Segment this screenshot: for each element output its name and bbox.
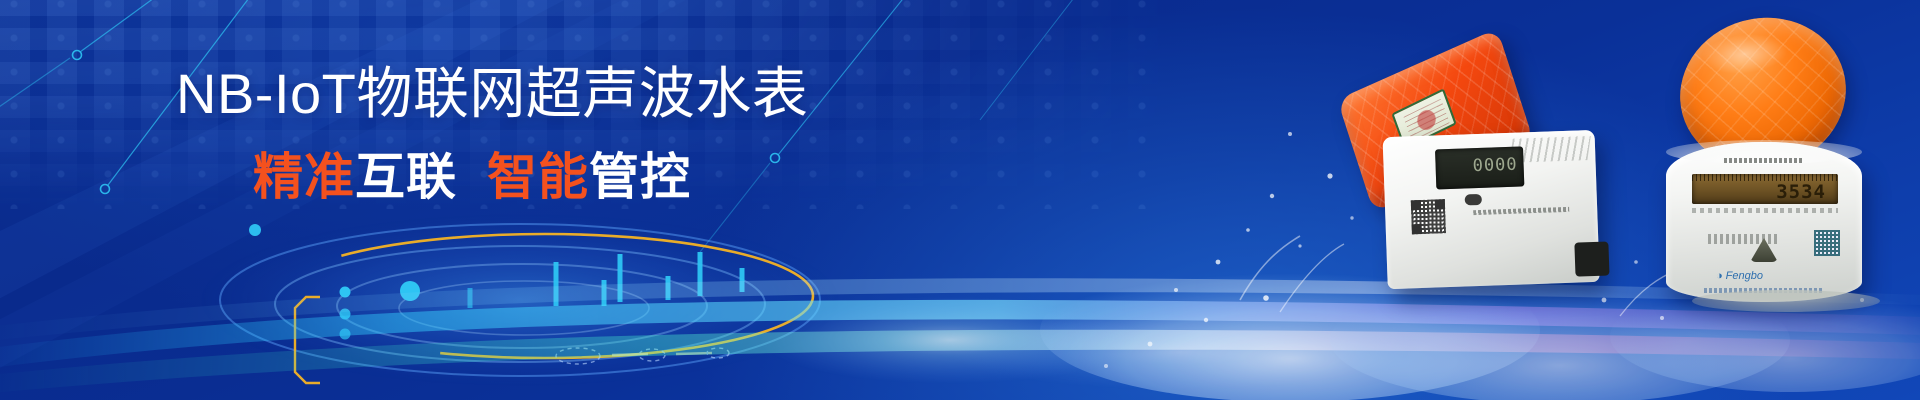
round-meter-lcd-value: 3534	[1776, 181, 1826, 203]
round-meter-base	[1692, 290, 1880, 312]
cyan-dot-markers	[249, 224, 420, 340]
dashed-indicator	[556, 348, 729, 364]
flat-meter-qr-code	[1411, 199, 1446, 234]
flat-meter-lcd-display: 0000	[1435, 146, 1524, 189]
flat-meter-body: 0000	[1383, 130, 1600, 289]
data-bars	[470, 252, 742, 308]
promo-banner: NB-IoT物联网超声波水表 精准互联智能管控 0000 3534	[0, 0, 1920, 400]
orbital-rings-graphic	[200, 214, 840, 386]
subtitle-part-2: 互联	[355, 149, 457, 205]
round-meter-model-text	[1724, 158, 1804, 163]
round-meter-body: 3534 Fengbo	[1666, 142, 1862, 302]
yellow-bracket	[295, 297, 320, 383]
subtitle-part-1: 精准	[253, 149, 355, 205]
banner-subtitle: 精准互联智能管控	[253, 152, 691, 202]
flat-meter-company-text	[1473, 207, 1569, 215]
subtitle-part-4: 管控	[589, 149, 691, 205]
round-meter-qr-code	[1814, 230, 1840, 256]
flat-meter-lcd-value: 0000	[1472, 155, 1518, 177]
product-round-water-meter: 3534 Fengbo	[1644, 18, 1894, 308]
round-meter-lcd-display: 3534	[1692, 174, 1838, 204]
flat-meter-port	[1574, 241, 1609, 276]
light-streaks	[0, 278, 1920, 396]
product-flat-water-meter: 0000	[1354, 58, 1602, 296]
round-meter-spec-row	[1692, 208, 1838, 224]
flat-meter-button	[1465, 194, 1482, 206]
round-meter-spec-block	[1708, 234, 1780, 244]
subtitle-part-3: 智能	[487, 149, 589, 205]
round-meter-brand-logo: Fengbo	[1716, 270, 1763, 282]
banner-headline: NB-IoT物联网超声波水表	[176, 66, 808, 122]
